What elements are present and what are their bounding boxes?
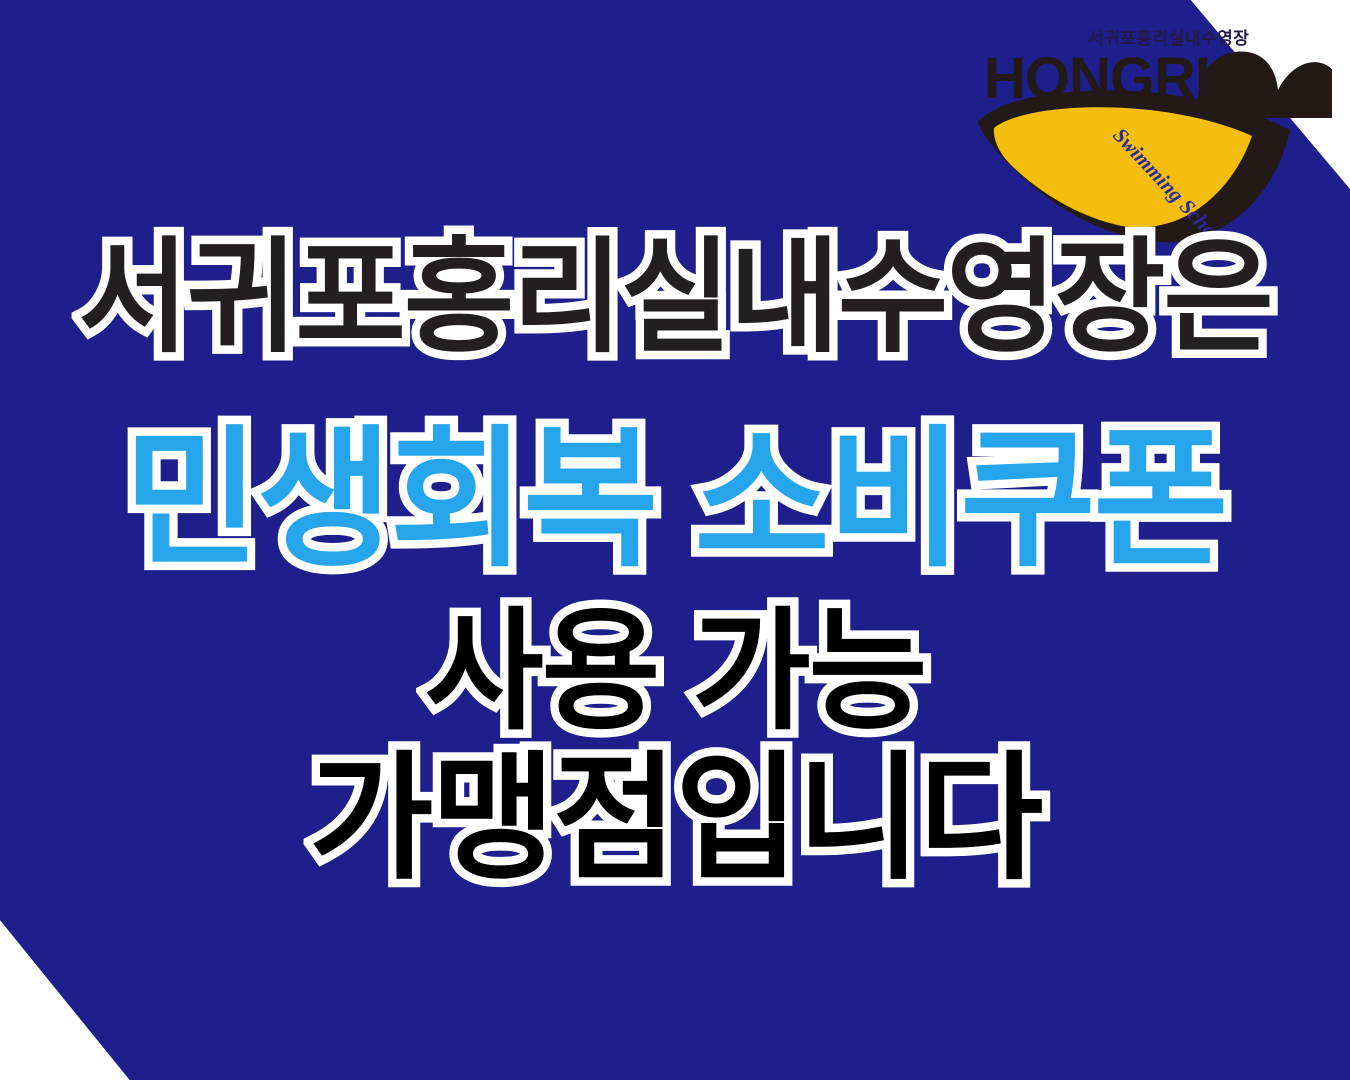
promo-poster: 서귀포홍리실내수영장 HONGRI Swimming School 서귀포홍리실…	[0, 0, 1350, 1080]
whale-tail-icon	[1198, 51, 1332, 118]
logo-wordmark: HONGRI	[984, 46, 1210, 111]
hongri-logo: 서귀포홍리실내수영장 HONGRI Swimming School	[960, 18, 1332, 244]
logo-korean-subtitle: 서귀포홍리실내수영장	[1088, 28, 1249, 48]
